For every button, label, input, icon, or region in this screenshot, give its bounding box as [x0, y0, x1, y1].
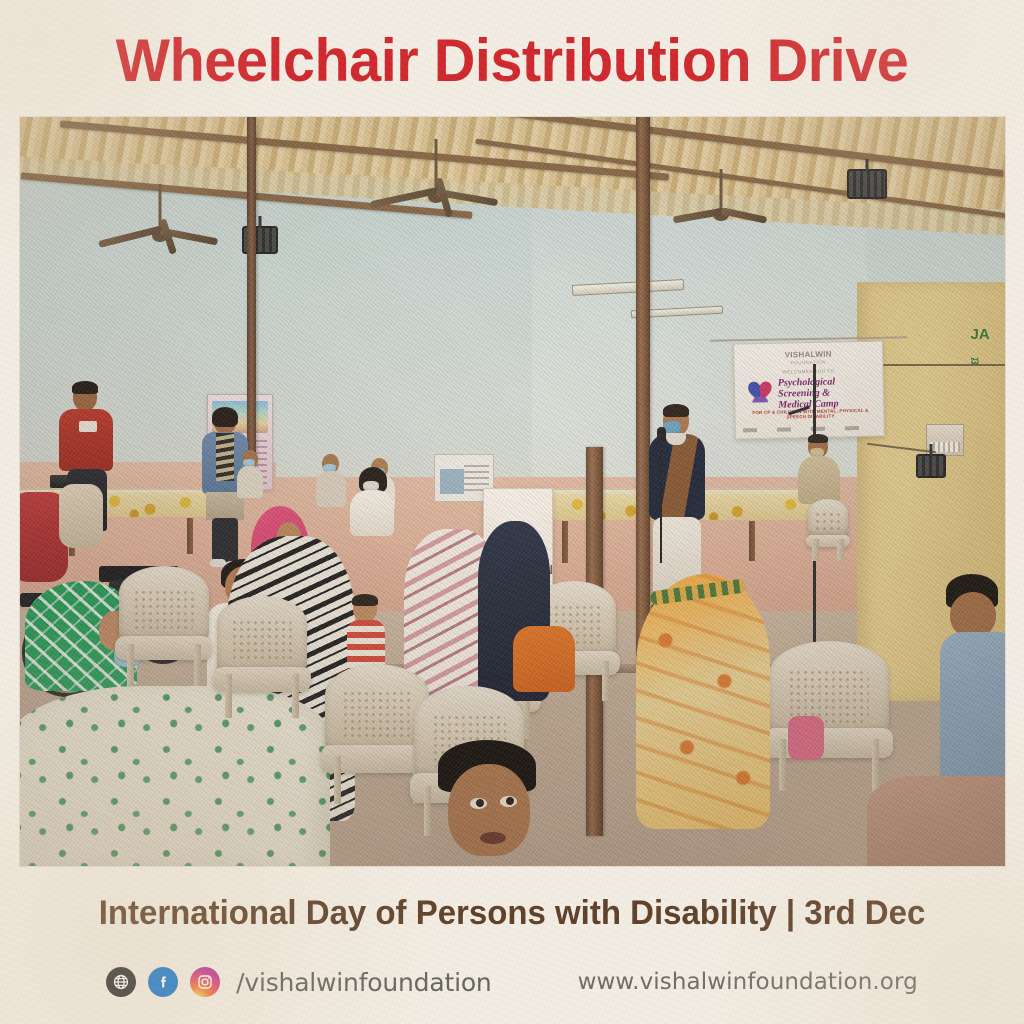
ceiling-fan — [158, 184, 162, 236]
page-title: Wheelchair Distribution Drive — [20, 26, 1003, 95]
speaker-hair — [663, 404, 689, 417]
background-body — [237, 466, 263, 498]
banner-title: Psychological Screening & Medical Camp — [778, 375, 880, 411]
banner-welcome: WELCOMES YOU TO — [783, 368, 835, 374]
volunteer-name-badge — [79, 421, 97, 432]
speaker-jacket — [649, 434, 705, 520]
mic-cable — [660, 443, 662, 563]
website-url-text[interactable]: www.vishalwinfoundation.org — [578, 969, 918, 995]
volunteer-red-sweater — [59, 409, 113, 471]
facebook-icon[interactable] — [148, 967, 178, 997]
banner-organisation-sub: FOUNDATION — [791, 359, 827, 365]
audience-left-edge-person — [59, 484, 105, 574]
child-hair — [352, 594, 378, 606]
wall-text-ja: JA — [971, 327, 990, 343]
background-person — [316, 454, 346, 521]
banner-organisation: VISHALWIN — [785, 349, 832, 359]
footer-bar: /vishalwinfoundation www.vishalwinfounda… — [0, 958, 1024, 1006]
banner-title-line2: Screening & — [778, 387, 830, 399]
wall-banner: VISHALWIN FOUNDATION WELCOMES YOU TO Psy… — [733, 340, 885, 439]
boy-looking-up-person — [434, 746, 554, 866]
audience-orange-dupatta-person — [636, 574, 770, 829]
staff-leggings — [212, 518, 238, 562]
boy-up-pupil — [476, 799, 484, 807]
audience-chair-foreground — [217, 596, 307, 718]
right-edge-shirt — [940, 632, 1005, 782]
staff-scarf — [216, 433, 234, 481]
official-shirt — [798, 456, 840, 504]
photo-scene: JA ಜ — [20, 117, 1005, 866]
audience-bottom-right-shawl — [867, 776, 1005, 866]
banner-footer-strip — [743, 425, 877, 432]
official-hair — [808, 434, 828, 443]
speaker-collar — [666, 433, 686, 445]
official-chair — [808, 499, 848, 561]
background-person — [237, 450, 263, 510]
background-person-white-top — [350, 469, 394, 566]
floodlight — [847, 169, 887, 199]
table-leg — [187, 518, 193, 554]
audience-pink-sleeve — [788, 716, 824, 760]
table-leg — [749, 521, 755, 561]
wall-wire — [867, 364, 1005, 366]
ceiling-fan — [434, 139, 438, 197]
volunteer-hair — [72, 381, 98, 394]
boy-up-mouth — [480, 832, 506, 844]
page-subtitle: International Day of Persons with Disabi… — [15, 894, 1008, 933]
boy-up-pupil — [506, 797, 514, 805]
event-photo: JA ಜ — [20, 117, 1005, 866]
social-handle-text[interactable]: /vishalwinfoundation — [236, 968, 491, 997]
left-edge-body — [59, 484, 103, 548]
background-body — [316, 471, 346, 507]
audience-chair-right — [769, 641, 889, 791]
banner-title-line1: Psychological — [778, 376, 835, 388]
background-body — [350, 490, 394, 536]
right-edge-head — [950, 592, 996, 638]
globe-icon[interactable] — [106, 967, 136, 997]
microphone — [657, 427, 666, 443]
instagram-icon[interactable] — [190, 967, 220, 997]
audience-orange-shawl — [513, 626, 575, 692]
banner-tagline: FOR CP & CHILDREN WITH MENTAL, PHYSICAL … — [744, 407, 878, 420]
audience-chair-foreground — [119, 566, 209, 686]
ceiling-fan — [719, 169, 723, 215]
heart-hands-icon — [747, 379, 773, 404]
table-leg — [562, 521, 568, 563]
floodlight — [916, 454, 946, 478]
staff-hair — [212, 407, 238, 427]
social-links-group: /vishalwinfoundation — [106, 967, 491, 997]
poster-root: Wheelchair Distribution Drive JA ಜ — [0, 0, 1024, 1024]
